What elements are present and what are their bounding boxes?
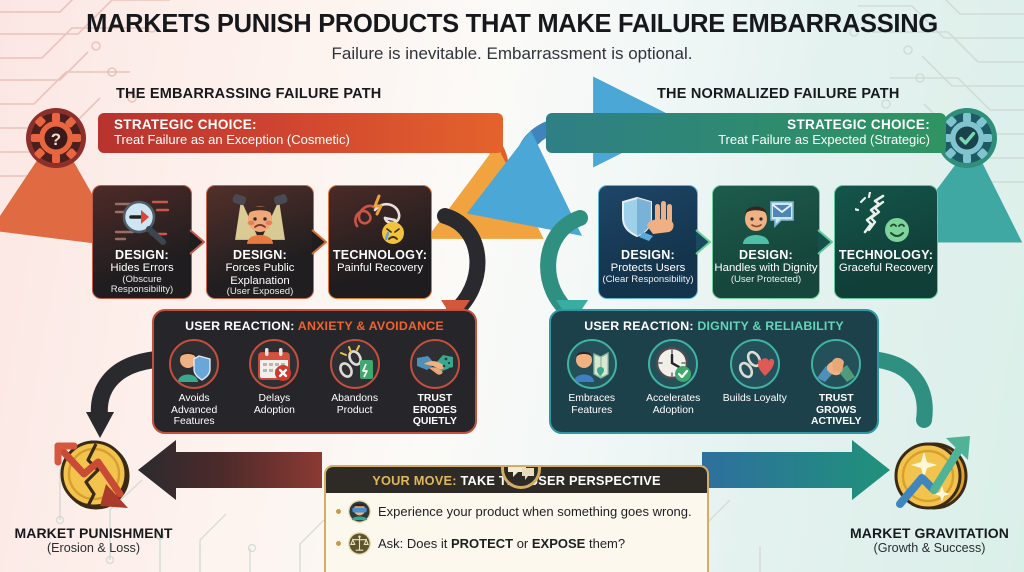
left-banner-detail: Treat Failure as an Exception (Cosmetic) — [114, 133, 503, 148]
left-banner-heading: STRATEGIC CHOICE: — [114, 118, 503, 133]
spotlight-embarrassed-person-icon — [229, 192, 291, 246]
right-reaction-caption-1: Embraces Features — [555, 393, 629, 416]
calendar-x-icon — [249, 339, 299, 389]
right-path-label: THE NORMALIZED FAILURE PATH — [657, 86, 900, 102]
clock-check-icon — [648, 339, 698, 389]
left-reaction-item-avoids-features: Avoids Advanced Features — [157, 339, 231, 428]
person-message-dignity-icon — [735, 192, 797, 246]
bullet-dot — [336, 541, 341, 546]
right-reaction-label: USER REACTION: — [584, 319, 694, 333]
right-card-3-subtitle: Graceful Recovery — [839, 262, 933, 275]
left-outcome-name: MARKET PUNISHMENT — [6, 525, 181, 541]
scales-of-justice-icon — [348, 532, 371, 555]
cracked-coin-down-arrow-icon — [48, 428, 140, 520]
right-card-2-note: (User Protected) — [731, 275, 801, 286]
right-reaction-item-trust-grows: TRUST GROWS ACTIVELY — [799, 339, 873, 428]
right-card-2-subtitle: Handles with Dignity — [714, 262, 817, 275]
speech-bubbles-icon — [500, 465, 542, 490]
right-card-1-subtitle: Protects Users — [611, 262, 686, 275]
shield-protecting-hand-icon — [617, 192, 679, 246]
left-chevron-1-icon — [188, 228, 210, 256]
infographic-canvas: MARKETS PUNISH PRODUCTS THAT MAKE FAILUR… — [0, 0, 1024, 572]
broken-chain-exit-icon — [330, 339, 380, 389]
your-move-title-rest: TAKE THE USER PERSPECTIVE — [460, 473, 660, 488]
right-reaction-item-builds-loyalty: Builds Loyalty — [718, 339, 792, 428]
your-move-bullet-1-text: Experience your product when something g… — [378, 504, 692, 519]
left-chevron-2-icon — [310, 228, 332, 256]
left-card-1-note: (Obscure Responsibility) — [93, 275, 191, 296]
bullet-dot — [336, 509, 341, 514]
page-title: MARKETS PUNISH PRODUCTS THAT MAKE FAILUR… — [0, 10, 1024, 39]
gear-question-icon: ? — [24, 106, 88, 170]
right-outcome-detail: (Growth & Success) — [842, 541, 1017, 555]
right-card-protects-users: DESIGN: Protects Users (Clear Responsibi… — [598, 185, 698, 299]
left-reaction-caption-2: Delays Adoption — [237, 393, 311, 416]
left-path-label: THE EMBARRASSING FAILURE PATH — [116, 86, 381, 102]
magnifier-hidden-error-icon — [111, 192, 173, 246]
right-reaction-item-accelerates-adoption: Accelerates Adoption — [636, 339, 710, 428]
right-card-2-title: DESIGN: — [739, 248, 793, 262]
left-card-1-title: DESIGN: — [115, 248, 169, 262]
left-outcome-detail: (Erosion & Loss) — [6, 541, 181, 555]
right-card-3-title: TECHNOLOGY: — [839, 248, 933, 262]
tangled-cable-crying-face-icon — [349, 192, 411, 246]
spring-smiley-recovery-icon — [855, 192, 917, 246]
left-outcome: MARKET PUNISHMENT (Erosion & Loss) — [6, 428, 181, 555]
right-reaction-accent: DIGNITY & RELIABILITY — [697, 319, 843, 333]
person-map-icon — [567, 339, 617, 389]
your-move-bullet-list: Experience your product when something g… — [326, 493, 707, 555]
left-reaction-item-abandons-product: Abandons Product — [318, 339, 392, 428]
left-user-reaction-panel: USER REACTION: ANXIETY & AVOIDANCE Avoid… — [152, 309, 477, 434]
left-strategic-choice-banner: STRATEGIC CHOICE: Treat Failure as an Ex… — [98, 113, 503, 153]
right-card-1-title: DESIGN: — [621, 248, 675, 262]
left-reaction-label: USER REACTION: — [185, 319, 295, 333]
left-card-3-title: TECHNOLOGY: — [333, 248, 427, 262]
vr-headset-person-icon — [348, 500, 371, 523]
chain-heart-icon — [730, 339, 780, 389]
left-card-1-subtitle: Hides Errors — [110, 262, 173, 275]
person-shield-icon — [169, 339, 219, 389]
left-reaction-item-trust-erodes: TRUST ERODES QUIETLY — [398, 339, 472, 428]
your-move-bullet-2-text: Ask: Does it PROTECT or EXPOSE them? — [378, 536, 625, 551]
left-reaction-header: USER REACTION: ANXIETY & AVOIDANCE — [154, 319, 475, 333]
svg-text:?: ? — [51, 130, 61, 149]
right-chevron-2-icon — [816, 228, 838, 256]
page-subtitle: Failure is inevitable. Embarrassment is … — [0, 44, 1024, 64]
your-move-title-gold: YOUR MOVE: — [372, 473, 456, 488]
right-reaction-caption-2: Accelerates Adoption — [636, 393, 710, 416]
right-outcome: MARKET GRAVITATION (Growth & Success) — [842, 428, 1017, 555]
your-move-bullet-2-rich: Ask: Does it PROTECT or EXPOSE them? — [378, 536, 625, 551]
left-card-3-subtitle: Painful Recovery — [337, 262, 423, 275]
right-reaction-caption-4: TRUST GROWS ACTIVELY — [799, 393, 873, 428]
left-reaction-caption-4: TRUST ERODES QUIETLY — [398, 393, 472, 428]
left-card-2-note: (User Exposed) — [227, 287, 294, 298]
crumbling-handshake-icon — [410, 339, 460, 389]
list-item: Ask: Does it PROTECT or EXPOSE them? — [336, 532, 707, 555]
left-reaction-caption-3: Abandons Product — [318, 393, 392, 416]
right-card-graceful-recovery: TECHNOLOGY: Graceful Recovery — [834, 185, 938, 299]
right-outcome-name: MARKET GRAVITATION — [842, 525, 1017, 541]
right-user-reaction-panel: USER REACTION: DIGNITY & RELIABILITY Emb… — [549, 309, 879, 434]
right-reaction-header: USER REACTION: DIGNITY & RELIABILITY — [551, 319, 877, 333]
list-item: Experience your product when something g… — [336, 500, 707, 523]
left-card-painful-recovery: TECHNOLOGY: Painful Recovery — [328, 185, 432, 299]
left-card-2-subtitle: Forces Public Explanation — [207, 262, 313, 288]
left-card-forces-public-explanation: DESIGN: Forces Public Explanation (User … — [206, 185, 314, 299]
your-move-callout: YOUR MOVE: TAKE THE USER PERSPECTIVE Exp… — [324, 465, 709, 572]
left-reaction-accent: ANXIETY & AVOIDANCE — [298, 319, 444, 333]
right-reaction-item-embraces-features: Embraces Features — [555, 339, 629, 428]
right-banner-detail: Treat Failure as Expected (Strategic) — [718, 133, 930, 148]
left-reaction-caption-1: Avoids Advanced Features — [157, 393, 231, 428]
right-reaction-caption-3: Builds Loyalty — [718, 393, 792, 405]
right-banner-heading: STRATEGIC CHOICE: — [787, 118, 930, 133]
right-chevron-1-icon — [694, 228, 716, 256]
left-reaction-item-delays-adoption: Delays Adoption — [237, 339, 311, 428]
right-strategic-choice-banner: STRATEGIC CHOICE: Treat Failure as Expec… — [546, 113, 946, 153]
left-card-2-title: DESIGN: — [233, 248, 287, 262]
firm-handshake-icon — [811, 339, 861, 389]
right-card-1-note: (Clear Responsibility) — [602, 275, 693, 286]
left-card-hides-errors: DESIGN: Hides Errors (Obscure Responsibi… — [92, 185, 192, 299]
right-card-handles-with-dignity: DESIGN: Handles with Dignity (User Prote… — [712, 185, 820, 299]
shining-coin-up-arrow-icon — [884, 428, 976, 520]
